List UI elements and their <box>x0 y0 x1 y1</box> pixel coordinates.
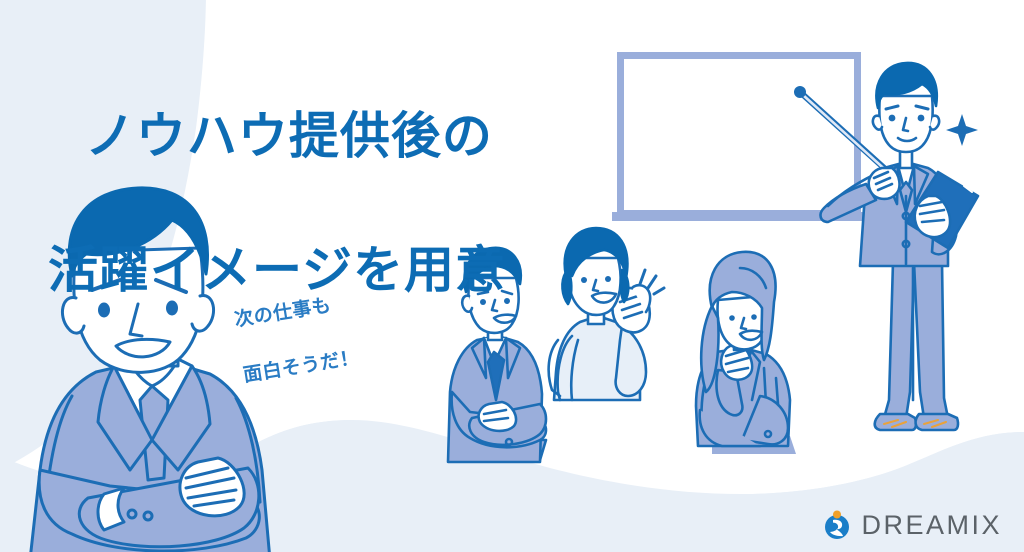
dreamix-logo-icon <box>822 510 852 540</box>
dreamix-wordmark: DREAMIX <box>861 512 1002 539</box>
whiteboard <box>612 52 866 221</box>
dreamix-logo: DREAMIX <box>822 510 1002 540</box>
presenter-hand-right <box>915 196 950 237</box>
speech-bubble-text: 次の仕事も 面白そうだ！ <box>214 260 361 392</box>
speech-bubble-line1: 次の仕事も <box>233 294 333 331</box>
presenter-hand-left <box>869 168 900 199</box>
page-title-line1: ノウハウ提供後の <box>85 107 493 165</box>
